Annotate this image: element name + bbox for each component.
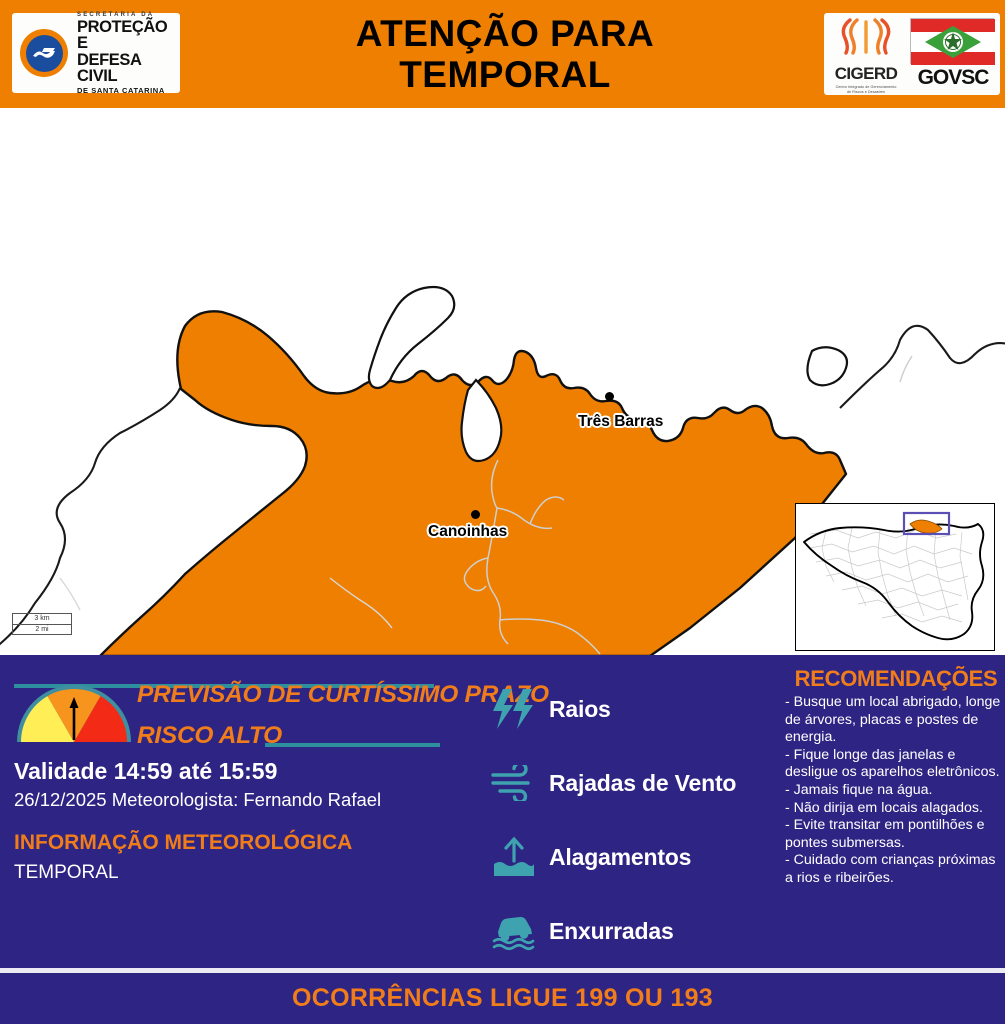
scalebar-km: 3 km (13, 615, 71, 622)
city-marker-canoinhas[interactable] (471, 510, 480, 519)
govsc-logo: GOVSC (910, 18, 996, 90)
defesa-civil-emblem-icon (20, 29, 68, 77)
cigerd-subtitle-2: de Riscos e Desastres (828, 90, 904, 95)
emergency-phone-text: OCORRÊNCIAS LIGUE 199 OU 193 (292, 984, 713, 1013)
inset-locator-map[interactable] (795, 503, 995, 651)
govsc-name: GOVSC (910, 66, 996, 90)
hazard-item-rajadas: Rajadas de Vento (485, 746, 755, 820)
cigerd-logo: CIGERD Centro Integrado de Gerenciamento… (828, 14, 904, 95)
hazard-item-alagamentos: Alagamentos (485, 820, 755, 894)
meteo-info-value: TEMPORAL (14, 862, 119, 884)
dc-logo-line3: DEFESA CIVIL (77, 52, 172, 85)
dc-logo-line2: PROTEÇÃO E (77, 19, 172, 52)
city-label-canoinhas: Canoinhas (428, 523, 507, 541)
recommendation-item: - Busque um local abrigado, longe de árv… (785, 694, 1003, 747)
recommendation-item: - Não dirija em locais alagados. (785, 800, 1003, 818)
validity-text: Validade 14:59 até 15:59 (14, 758, 277, 785)
cigerd-wave-icon (836, 14, 896, 58)
hazard-item-raios: Raios (485, 672, 755, 746)
scalebar-mi: 2 mi (13, 626, 71, 633)
wind-icon (485, 765, 543, 801)
map-inlet-cut (807, 347, 847, 385)
recommendation-item: - Jamais fique na água. (785, 782, 1003, 800)
risk-gauge (14, 680, 134, 751)
cigerd-subtitle-1: Centro Integrado de Gerenciamento (828, 85, 904, 90)
hazard-label-alagamentos: Alagamentos (549, 844, 691, 871)
santa-catarina-flag-icon (910, 18, 994, 64)
hazard-list: Raios Rajadas de Vento (485, 672, 755, 968)
risk-gauge-icon (14, 680, 134, 746)
alert-area-polygon (100, 311, 846, 655)
meteo-info-title: INFORMAÇÃO METEOROLÓGICA (14, 831, 352, 855)
hazard-item-enxurradas: Enxurradas (485, 894, 755, 968)
page-title: ATENÇÃO PARA TEMPORAL (190, 8, 820, 100)
inset-map-canvas (796, 504, 992, 648)
dc-wave-glyph-icon (31, 45, 58, 62)
alert-map[interactable]: Três Barras Canoinhas 3 km 2 mi (0, 108, 1005, 655)
map-scalebar: 3 km 2 mi (12, 613, 72, 635)
dc-logo-line4: DE SANTA CATARINA (77, 87, 172, 95)
title-line-1: ATENÇÃO PARA (356, 13, 655, 54)
rule-under-risk (265, 743, 440, 747)
partner-logos: CIGERD Centro Integrado de Gerenciamento… (824, 13, 1000, 95)
recommendation-item: - Evite transitar em pontilhões e pontes… (785, 817, 1003, 852)
title-line-2: TEMPORAL (399, 54, 611, 95)
hazard-label-enxurradas: Enxurradas (549, 918, 674, 945)
meteorologist-text: 26/12/2025 Meteorologista: Fernando Rafa… (14, 789, 381, 811)
flash-flood-icon (485, 910, 543, 952)
flood-icon (485, 834, 543, 880)
header-bar: SECRETARIA DA PROTEÇÃO E DEFESA CIVIL DE… (0, 0, 1005, 108)
lightning-icon (485, 687, 543, 731)
defesa-civil-logo: SECRETARIA DA PROTEÇÃO E DEFESA CIVIL DE… (12, 13, 180, 93)
govsc-suffix: SC (961, 66, 988, 89)
city-label-tres-barras: Três Barras (578, 413, 663, 431)
dc-logo-line1: SECRETARIA DA (77, 12, 172, 18)
footer-bar: OCORRÊNCIAS LIGUE 199 OU 193 (0, 973, 1005, 1024)
govsc-prefix: GOV (918, 66, 962, 89)
city-marker-tres-barras[interactable] (605, 392, 614, 401)
recommendation-item: - Cuidado com crianças próximas a rios e… (785, 852, 1003, 887)
risk-level-title: RISCO ALTO (137, 722, 282, 750)
alert-poster: SECRETARIA DA PROTEÇÃO E DEFESA CIVIL DE… (0, 0, 1005, 1024)
hazard-label-rajadas: Rajadas de Vento (549, 770, 736, 797)
recommendations-title: RECOMENDAÇÕES (790, 666, 1002, 692)
recommendations-list: - Busque um local abrigado, longe de árv… (785, 694, 1003, 888)
map-notch-area (369, 287, 454, 388)
cigerd-name: CIGERD (828, 64, 904, 84)
recommendation-item: - Fique longe das janelas e desligue os … (785, 747, 1003, 782)
hazard-label-raios: Raios (549, 696, 611, 723)
